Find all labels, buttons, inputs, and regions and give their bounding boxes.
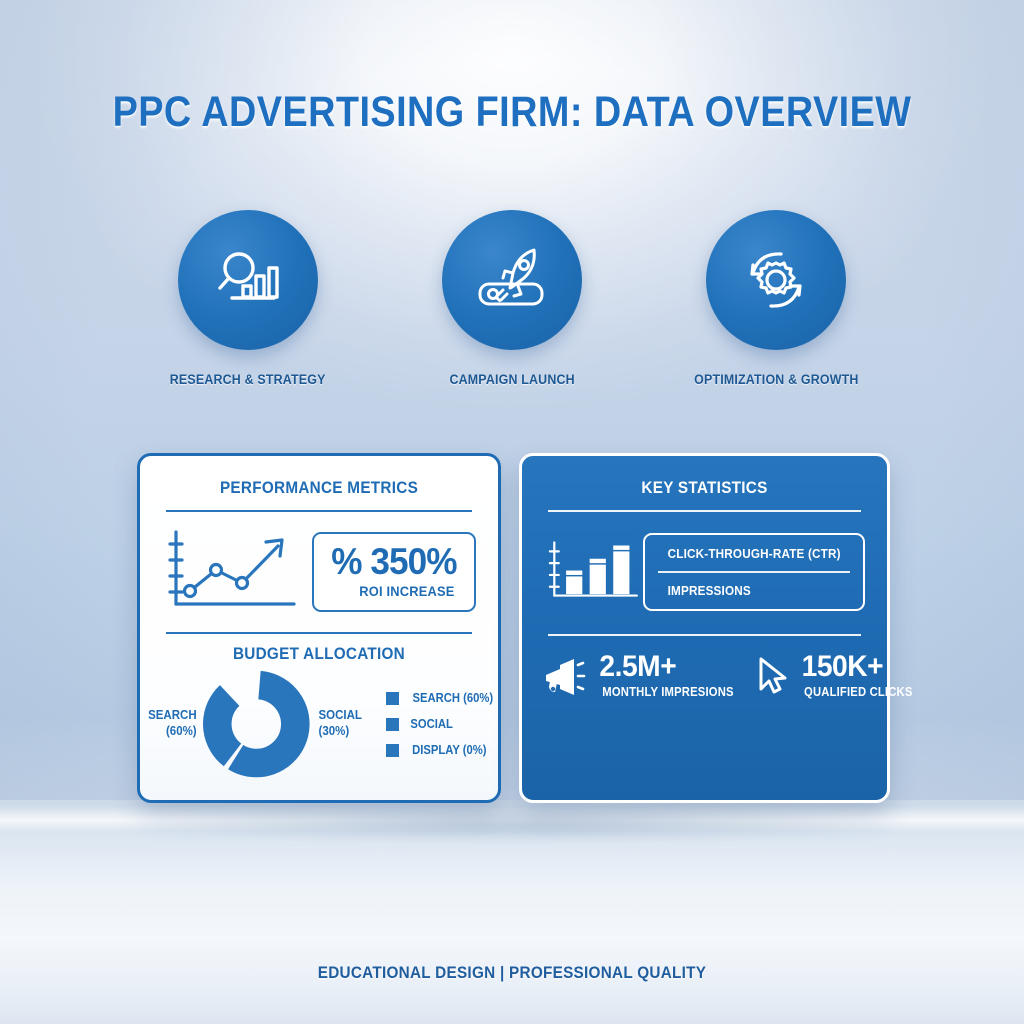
divider — [166, 632, 472, 634]
step-icon-circle — [178, 210, 318, 350]
metrics-box: CLICK-THROUGH-RATE (CTR) IMPRESSIONS — [643, 533, 865, 611]
donut-label-social: SOCIAL (30%) — [318, 708, 376, 739]
divider — [548, 634, 861, 636]
step-campaign-launch[interactable]: CAMPAIGN LAUNCH — [422, 210, 602, 387]
stat-number: 2.5M+ — [599, 652, 736, 682]
step-label: RESEARCH & STRATEGY — [170, 372, 326, 387]
legend-label: SEARCH (60%) — [413, 691, 494, 705]
step-icon-circle — [442, 210, 582, 350]
roi-caption: ROI INCREASE — [333, 583, 454, 599]
cursor-arrow-icon — [755, 655, 789, 697]
bar-chart-graphic — [544, 526, 643, 618]
stat-caption: MONTHLY IMPRESIONS — [602, 685, 733, 699]
roi-value: % 350% — [331, 544, 456, 580]
metric-ctr-label: CLICK-THROUGH-RATE (CTR) — [667, 546, 840, 561]
process-steps: RESEARCH & STRATEGY CAMPAIGN LAUNCH — [0, 210, 1024, 387]
donut-chart-graphic — [203, 668, 310, 780]
stat-text: 2.5M+ MONTHLY IMPRESIONS — [595, 652, 741, 699]
footer-text: EDUCATIONAL DESIGN | PROFESSIONAL QUALIT… — [51, 963, 973, 983]
infographic-stage: PPC ADVERTISING FIRM: DATA OVERVIEW RESE… — [0, 0, 1024, 1024]
megaphone-icon — [542, 656, 586, 696]
rocket-search-bar-icon — [472, 240, 552, 320]
step-optimization-growth[interactable]: OPTIMIZATION & GROWTH — [686, 210, 866, 387]
metric-impressions-label: IMPRESSIONS — [667, 583, 840, 598]
performance-metrics-card[interactable]: PERFORMANCE METRICS % 350% ROI INCREASE — [137, 453, 501, 803]
card-title: PERFORMANCE METRICS — [158, 478, 480, 498]
legend-item-social: SOCIAL — [386, 717, 498, 731]
donut-label-search: SEARCH (60%) — [142, 708, 196, 739]
stat-text: 150K+ QUALIFIED CLICKS — [798, 652, 919, 699]
divider — [658, 571, 850, 573]
gear-refresh-icon — [737, 241, 815, 319]
legend-label: SOCIAL — [411, 717, 454, 731]
budget-chart-row: SEARCH (60%) SOCIAL (30%) SEARCH (60%) — [140, 668, 498, 780]
step-research-strategy[interactable]: RESEARCH & STRATEGY — [158, 210, 338, 387]
legend-label: DISPLAY (0%) — [413, 743, 487, 757]
card-title: KEY STATISTICS — [540, 478, 869, 498]
step-icon-circle — [706, 210, 846, 350]
card-drop-shadow — [150, 806, 880, 840]
stat-caption: QUALIFIED CLICKS — [804, 685, 913, 699]
divider — [548, 510, 861, 512]
key-statistics-card[interactable]: KEY STATISTICS CLICK-THROUGH-RATE (CTR) — [519, 453, 890, 803]
metrics-row: % 350% ROI INCREASE — [140, 526, 498, 618]
step-label: OPTIMIZATION & GROWTH — [694, 372, 858, 387]
line-chart-graphic — [162, 526, 302, 618]
legend-swatch-icon — [386, 718, 399, 731]
page-title: PPC ADVERTISING FIRM: DATA OVERVIEW — [61, 88, 962, 137]
budget-allocation-title: BUDGET ALLOCATION — [158, 644, 480, 664]
budget-legend: SEARCH (60%) SOCIAL DISPLAY (0%) — [386, 691, 498, 757]
roi-badge: % 350% ROI INCREASE — [312, 532, 476, 611]
legend-item-display: DISPLAY (0%) — [386, 743, 498, 757]
legend-item-search: SEARCH (60%) — [386, 691, 498, 705]
divider — [166, 510, 472, 512]
magnifier-bar-chart-icon — [210, 242, 286, 318]
legend-swatch-icon — [386, 692, 399, 705]
statistics-row: CLICK-THROUGH-RATE (CTR) IMPRESSIONS — [522, 526, 887, 618]
step-label: CAMPAIGN LAUNCH — [449, 372, 574, 387]
stat-monthly-impressions: 2.5M+ MONTHLY IMPRESIONS — [542, 652, 741, 699]
legend-swatch-icon — [386, 744, 399, 757]
big-stats-row: 2.5M+ MONTHLY IMPRESIONS 150K+ QUALIFIED… — [522, 652, 887, 699]
stat-number: 150K+ — [802, 652, 915, 682]
stat-qualified-clicks: 150K+ QUALIFIED CLICKS — [755, 652, 919, 699]
